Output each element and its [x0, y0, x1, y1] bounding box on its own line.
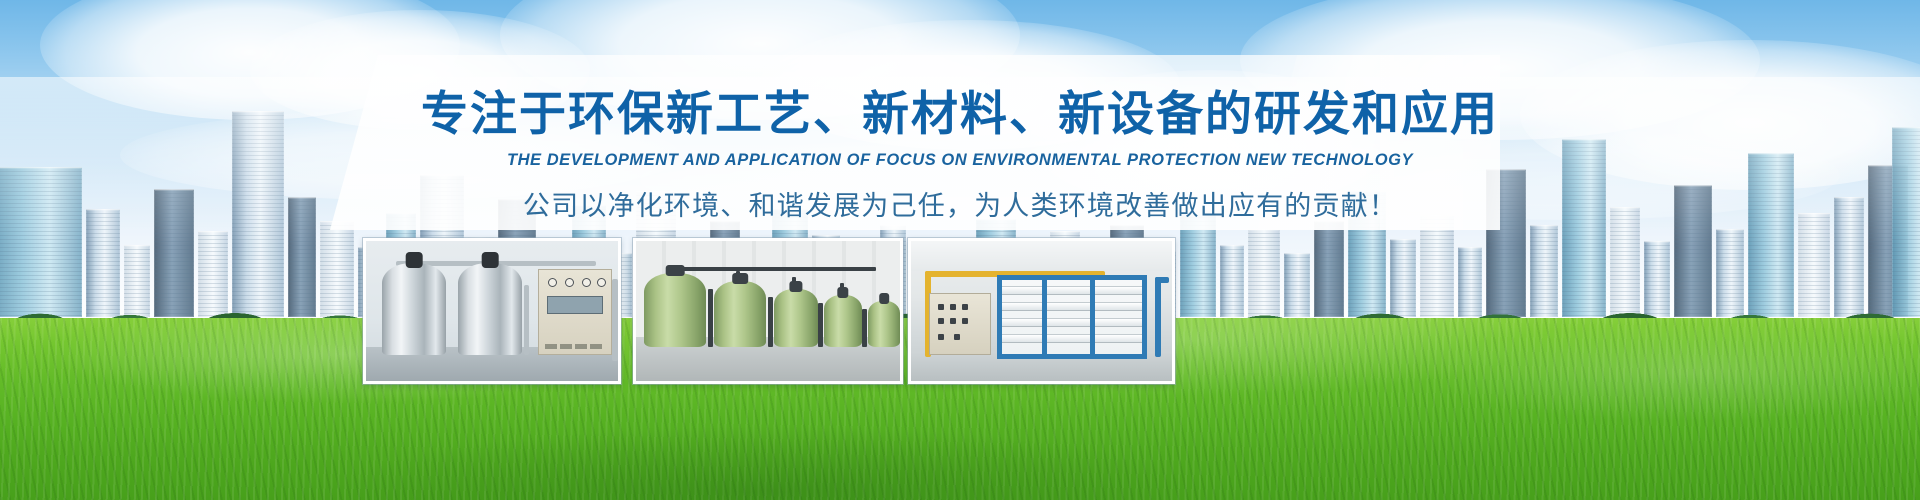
valve-manifold — [862, 309, 867, 347]
blue-pipe — [1155, 277, 1161, 357]
button-icon — [950, 304, 956, 310]
gauge-icon — [597, 278, 606, 287]
control-panel — [929, 293, 991, 355]
stainless-tank-system-image — [366, 241, 618, 381]
riser-pipe — [612, 279, 618, 361]
ro-membrane-tube — [1002, 318, 1142, 327]
frp-filter-vessel — [644, 273, 706, 347]
product-photo-3[interactable] — [908, 238, 1175, 384]
banner-subheadline-english: THE DEVELOPMENT AND APPLICATION OF FOCUS… — [0, 151, 1920, 170]
product-photo-2[interactable] — [633, 238, 903, 384]
stainless-tank — [382, 263, 446, 355]
gauge-icon — [565, 278, 574, 287]
banner-tagline: 公司以净化环境、和谐发展为己任，为人类环境改善做出应有的贡献！ — [0, 184, 1920, 223]
rack-upright — [1042, 280, 1047, 354]
gauge-icon — [548, 278, 557, 287]
frp-filter-vessel — [824, 295, 862, 347]
valve-manifold — [708, 289, 713, 347]
frp-filter-vessel — [868, 301, 900, 347]
frp-filter-vessel — [774, 289, 818, 347]
display-screen — [547, 296, 603, 314]
banner-headline: 专注于环保新工艺、新材料、新设备的研发和应用 — [0, 88, 1920, 142]
gauge-icon — [582, 278, 591, 287]
rack-upright — [1090, 280, 1095, 354]
reverse-osmosis-skid-image — [911, 241, 1172, 381]
button-icon — [962, 318, 968, 324]
control-cabinet — [538, 269, 612, 355]
button-icon — [938, 304, 944, 310]
button-icon — [954, 334, 960, 340]
cabinet-label — [545, 344, 605, 349]
frp-filter-vessel — [714, 281, 766, 347]
button-icon — [950, 318, 956, 324]
stainless-tank — [458, 263, 522, 355]
ceiling — [911, 241, 1172, 271]
hero-banner: 专注于环保新工艺、新材料、新设备的研发和应用 THE DEVELOPMENT A… — [0, 0, 1920, 500]
overhead-pipe — [666, 267, 876, 271]
valve-manifold — [768, 297, 773, 347]
button-icon — [938, 334, 944, 340]
button-icon — [938, 318, 944, 324]
banner-copy: 专注于环保新工艺、新材料、新设备的研发和应用 THE DEVELOPMENT A… — [0, 88, 1920, 223]
green-filter-vessel-row-image — [636, 241, 900, 381]
ro-membrane-tube — [1002, 334, 1142, 343]
riser-pipe — [524, 285, 529, 355]
valve-manifold — [818, 303, 823, 347]
ro-membrane-tube — [1002, 286, 1142, 295]
blue-pipe — [1155, 277, 1169, 283]
product-photo-strip — [363, 238, 1175, 384]
ro-membrane-tube — [1002, 302, 1142, 311]
product-photo-1[interactable] — [363, 238, 621, 384]
button-icon — [962, 304, 968, 310]
ro-membrane-rack — [997, 275, 1147, 359]
